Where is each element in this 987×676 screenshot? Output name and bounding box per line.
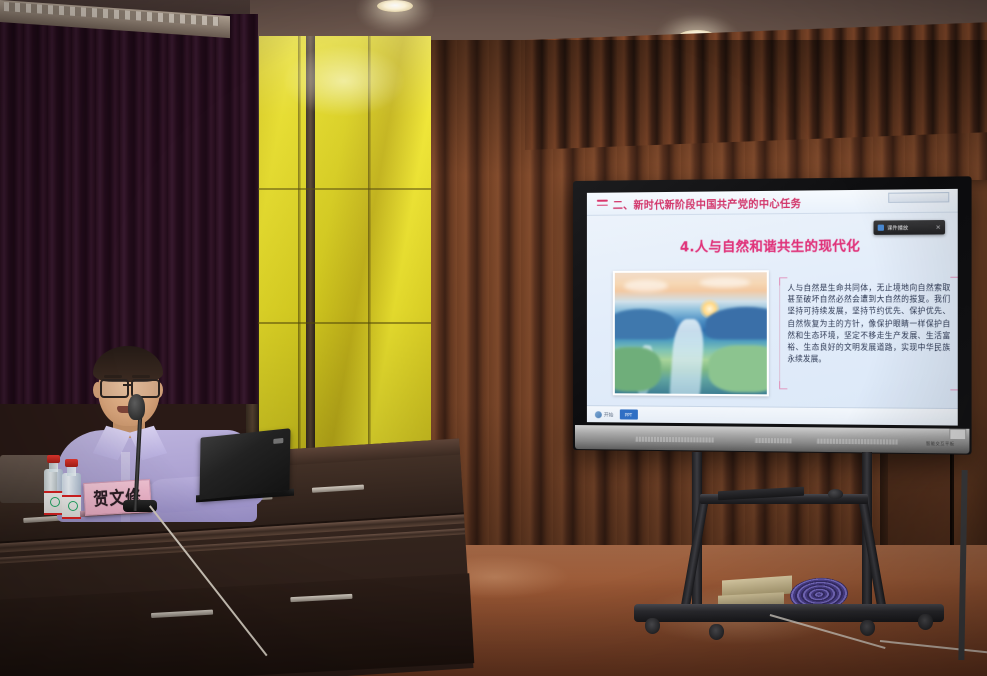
- glasses-lens-left: [100, 379, 129, 398]
- close-icon[interactable]: ✕: [935, 224, 940, 231]
- presentation-toolbar-widget[interactable]: 课件播放 ✕: [874, 220, 946, 235]
- menu-lines-icon: [597, 200, 608, 208]
- laptop[interactable]: [199, 428, 290, 500]
- slide-photo-nature: [613, 270, 769, 396]
- cart-caster-1: [645, 618, 660, 634]
- cart-mouse[interactable]: [828, 489, 843, 499]
- textbox-corner-bl: [779, 381, 787, 389]
- textbox-corner-br: [950, 382, 957, 390]
- slide-header-chip: [888, 192, 949, 203]
- textbox-corner-tr: [950, 277, 957, 285]
- photo-cloud-2: [699, 277, 750, 287]
- bottle-logo-left: [50, 497, 60, 507]
- bottle-label-right: [62, 495, 81, 519]
- display-screen[interactable]: 二、新时代新阶段中国共产党的中心任务 4.人与自然和谐共生的现代化: [587, 189, 958, 426]
- cart-caster-3: [860, 620, 875, 636]
- display-bottom-bezel: 智能交互平板: [575, 425, 969, 454]
- bottle-logo-right: [68, 501, 78, 511]
- slide-body-text: 人与自然是生命共同体，无止境地向自然索取甚至破坏自然必然会遭到大自然的报复。我们…: [787, 281, 950, 365]
- interactive-display[interactable]: 二、新时代新阶段中国共产党的中心任务 4.人与自然和谐共生的现代化: [573, 176, 972, 454]
- display-brand-label: 智能交互平板: [926, 441, 955, 448]
- taskbar-item-start[interactable]: 开始: [595, 411, 614, 418]
- glasses-bridge: [123, 384, 131, 386]
- widget-label: 课件播放: [887, 224, 908, 231]
- front-panel-handle-1: [151, 610, 213, 618]
- taskbar-label-start: 开始: [604, 411, 614, 418]
- photo-hill-left: [613, 309, 676, 339]
- taskbar-item-ppt[interactable]: PPT: [619, 409, 637, 419]
- photo-hill-right: [706, 306, 769, 339]
- display-speaker-right: [816, 439, 897, 445]
- display-speaker-center: [755, 438, 792, 443]
- microphone-head: [128, 394, 145, 420]
- slide-header-title: 二、新时代新阶段中国共产党的中心任务: [613, 194, 801, 212]
- bottle-cap-right: [65, 459, 78, 467]
- presenter-eyebrow-left: [104, 375, 122, 378]
- bottle-label-left: [44, 491, 63, 515]
- presenter-eyebrow-right: [132, 375, 150, 378]
- play-icon[interactable]: [878, 225, 884, 231]
- laptop-logo: [273, 438, 283, 444]
- slide-text-box: 人与自然是生命共同体，无止境地向自然索取甚至破坏自然必然会遭到大自然的报复。我们…: [779, 278, 958, 390]
- display-speaker-left: [635, 437, 714, 443]
- textbox-corner-tl: [779, 277, 787, 285]
- front-panel-handle-2: [290, 594, 352, 602]
- photo-field-right: [709, 345, 769, 392]
- bottle-cap-left: [47, 455, 60, 463]
- taskbar-label-ppt: PPT: [625, 412, 632, 417]
- display-ir-sensor: [949, 429, 966, 441]
- photo-cloud-1: [624, 280, 668, 292]
- chair-backrest: [0, 455, 50, 503]
- slide-header-bar: 二、新时代新阶段中国共产党的中心任务: [587, 189, 958, 216]
- start-icon[interactable]: [595, 411, 602, 418]
- photo-field-left: [613, 347, 661, 392]
- os-taskbar[interactable]: 开始 PPT: [587, 405, 958, 425]
- lecture-hall-photo: 二、新时代新阶段中国共产党的中心任务 4.人与自然和谐共生的现代化: [0, 0, 987, 676]
- cart-caster-2: [709, 624, 724, 640]
- slide-section-title: 4.人与自然和谐共生的现代化: [587, 234, 958, 256]
- cart-caster-4: [918, 614, 933, 630]
- ceiling-downlight-1: [377, 0, 413, 12]
